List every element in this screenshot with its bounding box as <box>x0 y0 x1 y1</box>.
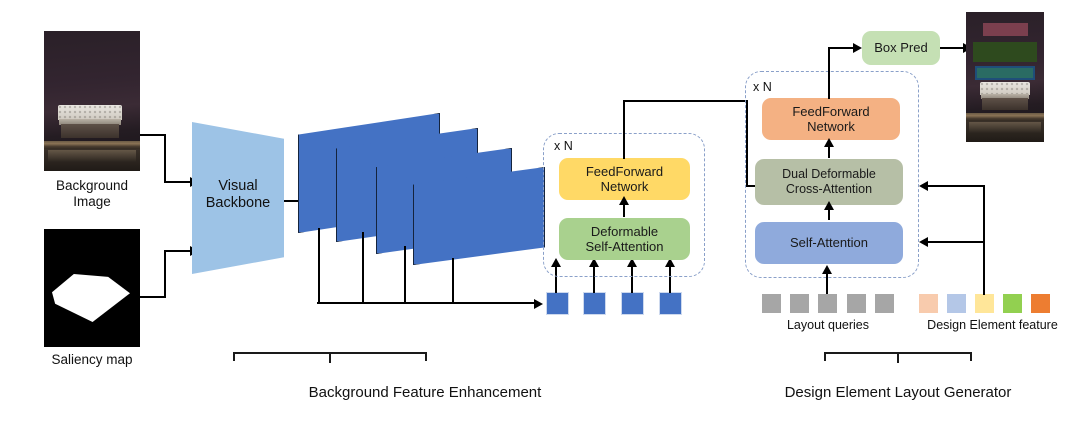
diagram-canvas: Background Image Saliency map Visual Bac… <box>0 0 1080 429</box>
background-image-label: Background Image <box>22 178 162 210</box>
background-token-2 <box>583 292 606 315</box>
design-element-feature-2 <box>947 294 966 313</box>
encoder-ffn-label: FeedForward Network <box>586 164 663 195</box>
output-box-maroon <box>983 23 1028 36</box>
enc-out-v1 <box>623 100 625 159</box>
saliency-blob <box>52 274 130 322</box>
decoder-ddca-label: Dual Deformable Cross-Attention <box>782 167 876 197</box>
saliency-map-thumbnail <box>44 229 140 347</box>
arrowhead-bus-to-tokens <box>534 299 543 309</box>
encoder-dsa-label: Deformable Self-Attention <box>585 224 663 255</box>
fmap-descender-3 <box>404 246 406 304</box>
bracket-right <box>824 352 972 364</box>
arrowhead-def-to-sa <box>919 237 928 247</box>
background-token-3 <box>621 292 644 315</box>
caption-right: Design Element Layout Generator <box>778 384 1018 402</box>
decoder-repeat-label: x N <box>753 80 772 94</box>
arrow-sal-to-backbone-h1 <box>140 296 166 298</box>
arrowhead-queries-to-sa <box>822 265 832 274</box>
layout-query-5 <box>875 294 894 313</box>
design-element-feature-label: Design Element feature <box>905 318 1080 333</box>
design-element-feature-3 <box>975 294 994 313</box>
arrowhead-dec-to-boxpred <box>853 43 862 53</box>
def-branch-ddca <box>926 185 985 187</box>
layout-query-3 <box>818 294 837 313</box>
output-preview-thumbnail <box>966 12 1044 142</box>
arrow-bg-to-backbone-v <box>164 134 166 183</box>
layout-queries-label: Layout queries <box>748 318 908 333</box>
design-element-feature-4 <box>1003 294 1022 313</box>
layout-query-2 <box>790 294 809 313</box>
arrow-bg-to-backbone-h2 <box>164 181 191 183</box>
fmap-descender-4 <box>452 258 454 304</box>
design-element-feature-1 <box>919 294 938 313</box>
decoder-dual-deformable-cross-attention[interactable]: Dual Deformable Cross-Attention <box>755 159 903 205</box>
encoder-repeat-label: x N <box>554 139 573 153</box>
encoder-feedforward-network[interactable]: FeedForward Network <box>559 158 690 200</box>
fmap-descender-2 <box>362 232 364 304</box>
arrowhead-ddca-to-ffn <box>824 138 834 147</box>
def-branch-sa <box>926 241 985 243</box>
dec-out-h <box>828 47 856 49</box>
visual-backbone-label: Visual Backbone <box>188 178 288 212</box>
bracket-left <box>233 352 427 364</box>
decoder-feedforward-network[interactable]: FeedForward Network <box>762 98 900 140</box>
background-token-4 <box>659 292 682 315</box>
background-image-thumbnail <box>44 31 140 171</box>
output-box-green <box>973 42 1037 62</box>
caption-left: Background Feature Enhancement <box>190 384 660 402</box>
decoder-ffn-label: FeedForward Network <box>792 104 869 135</box>
layout-query-4 <box>847 294 866 313</box>
dec-out-v <box>828 47 830 99</box>
arrowhead-sa-to-ddca <box>824 201 834 210</box>
arrowhead-encoder-internal <box>619 196 629 205</box>
arrowhead-def-to-ddca <box>919 181 928 191</box>
design-element-feature-5 <box>1031 294 1050 313</box>
output-box-teal <box>975 66 1035 80</box>
arrow-bg-to-backbone-h1 <box>140 134 166 136</box>
saliency-map-label: Saliency map <box>22 352 162 368</box>
background-token-1 <box>546 292 569 315</box>
arrow-sal-to-backbone-v <box>164 250 166 298</box>
box-pred-label: Box Pred <box>874 40 927 55</box>
layout-query-1 <box>762 294 781 313</box>
decoder-sa-label: Self-Attention <box>790 235 868 250</box>
enc-out-h1 <box>623 100 748 102</box>
decoder-self-attention[interactable]: Self-Attention <box>755 222 903 264</box>
fmap-descender-1 <box>318 228 320 304</box>
box-pred-block[interactable]: Box Pred <box>862 31 940 65</box>
arrow-queries-to-sa <box>826 272 828 294</box>
def-riser <box>983 185 985 295</box>
arrow-sal-to-backbone-h2 <box>164 250 191 252</box>
encoder-internal-arrow <box>623 203 625 217</box>
encoder-deformable-self-attention[interactable]: Deformable Self-Attention <box>559 218 690 260</box>
feature-bus-line <box>317 302 537 304</box>
